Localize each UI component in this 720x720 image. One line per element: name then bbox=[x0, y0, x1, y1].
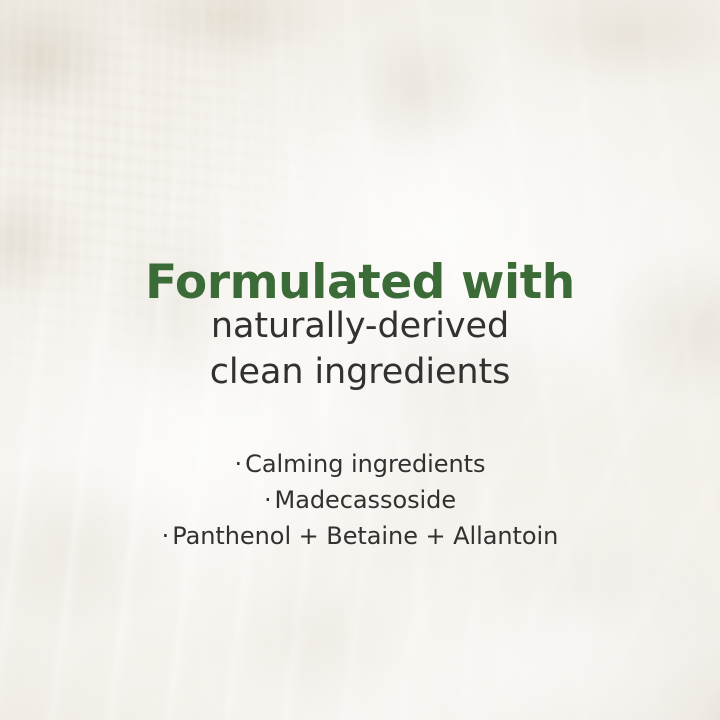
bullet-dot-icon: · bbox=[162, 522, 170, 550]
list-item: ·Calming ingredients bbox=[0, 446, 720, 482]
list-item-label: Calming ingredients bbox=[245, 450, 485, 478]
headline: Formulated with bbox=[0, 259, 720, 308]
subheadline-line-2: clean ingredients bbox=[0, 350, 720, 396]
list-item-label: Madecassoside bbox=[275, 486, 457, 514]
list-item-label: Panthenol + Betaine + Allantoin bbox=[172, 522, 558, 550]
bullet-dot-icon: · bbox=[264, 486, 272, 514]
copy-block: Formulated with naturally-derived clean … bbox=[0, 0, 720, 720]
bullet-dot-icon: · bbox=[235, 450, 243, 478]
subheadline-line-1: naturally-derived bbox=[0, 304, 720, 350]
promo-slide: Formulated with naturally-derived clean … bbox=[0, 0, 720, 720]
list-item: ·Panthenol + Betaine + Allantoin bbox=[0, 518, 720, 554]
subheadline: naturally-derived clean ingredients bbox=[0, 304, 720, 395]
list-item: ·Madecassoside bbox=[0, 482, 720, 518]
ingredient-list: ·Calming ingredients ·Madecassoside ·Pan… bbox=[0, 446, 720, 554]
